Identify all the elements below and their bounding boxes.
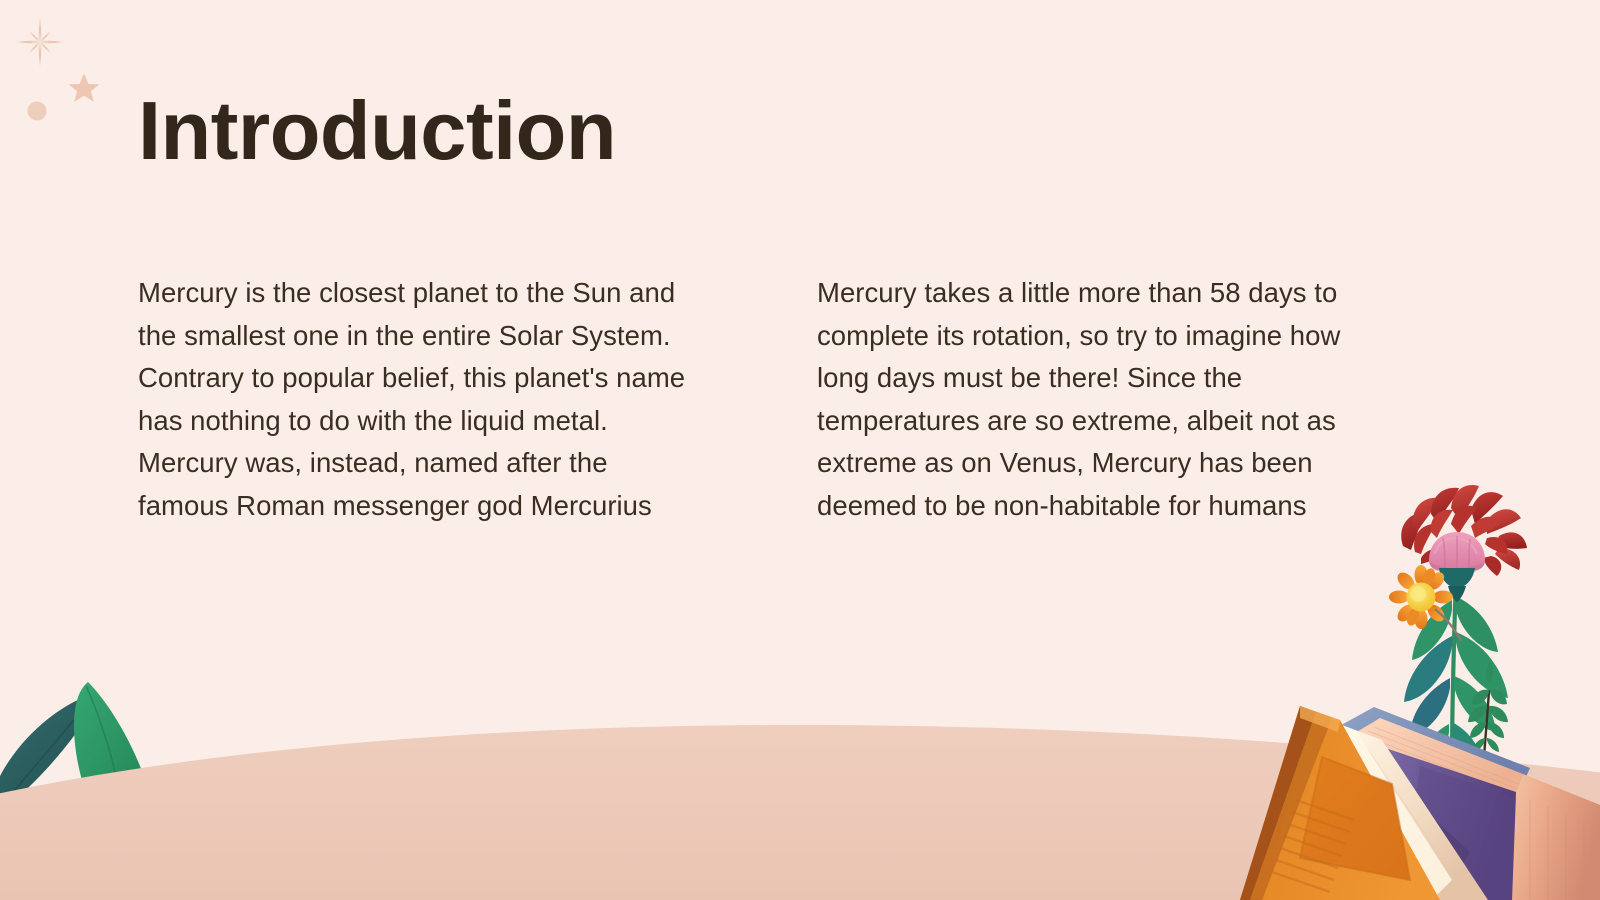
body-columns: Mercury is the closest planet to the Sun…: [138, 272, 1370, 527]
slide-content: Introduction Mercury is the closest plan…: [0, 0, 1600, 900]
body-paragraph-left: Mercury is the closest planet to the Sun…: [138, 272, 691, 527]
slide-canvas: Introduction Mercury is the closest plan…: [0, 0, 1600, 900]
page-title: Introduction: [138, 86, 616, 176]
body-paragraph-right: Mercury takes a little more than 58 days…: [817, 272, 1370, 527]
